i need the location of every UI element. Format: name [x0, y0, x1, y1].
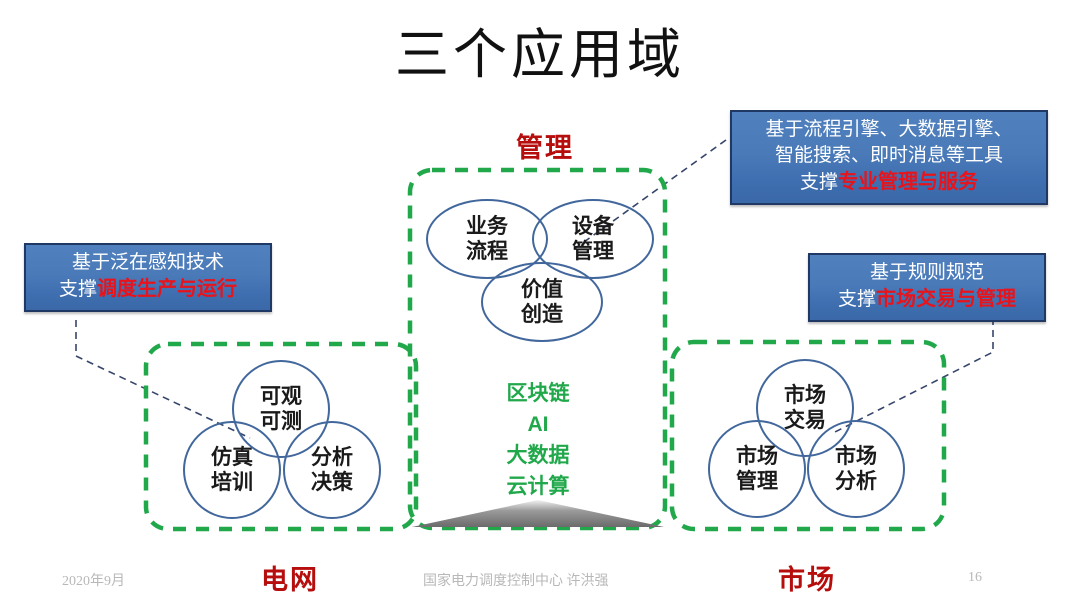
- callout-grid-highlight: 调度生产与运行: [97, 278, 237, 300]
- tech-item-cloud: 云计算: [468, 471, 608, 502]
- callout-market-highlight: 市场交易与管理: [876, 288, 1016, 310]
- connector-left: [76, 320, 250, 438]
- callout-grid: 基于泛在感知技术 支撑调度生产与运行: [24, 243, 272, 312]
- node-label-equipment-management: 设备 管理: [547, 214, 639, 264]
- connector-right: [835, 318, 993, 432]
- callout-grid-prefix: 支撑: [59, 279, 97, 300]
- domain-label-market: 市场: [717, 558, 897, 597]
- callout-management-line3: 支撑专业管理与服务: [740, 169, 1038, 196]
- callout-management-line1: 基于流程引擎、大数据引擎、: [740, 117, 1038, 143]
- callout-grid-line2: 支撑调度生产与运行: [34, 276, 262, 303]
- callout-management-prefix: 支撑: [800, 172, 838, 193]
- callout-management: 基于流程引擎、大数据引擎、 智能搜索、即时消息等工具 支撑专业管理与服务: [730, 110, 1048, 205]
- tech-item-ai: AI: [468, 409, 608, 440]
- callout-management-highlight: 专业管理与服务: [838, 171, 978, 193]
- slide-canvas: 三个应用域: [0, 0, 1080, 608]
- node-label-market-trading: 市场 交易: [759, 383, 851, 433]
- domain-label-management: 管理: [455, 126, 635, 165]
- tech-item-bigdata: 大数据: [468, 440, 608, 471]
- callout-management-line2: 智能搜索、即时消息等工具: [740, 143, 1038, 169]
- callout-market-line2: 支撑市场交易与管理: [818, 286, 1036, 313]
- market-domain-box: [672, 342, 944, 529]
- node-label-market-analysis: 市场 分析: [810, 444, 902, 494]
- callout-market: 基于规则规范 支撑市场交易与管理: [808, 253, 1046, 322]
- domain-label-grid: 电网: [200, 558, 380, 597]
- callout-grid-line1: 基于泛在感知技术: [34, 250, 262, 276]
- footer-page-number: 16: [968, 570, 982, 586]
- node-label-observable-measurable: 可观 可测: [235, 384, 327, 434]
- node-label-simulation-training: 仿真 培训: [186, 445, 278, 495]
- tech-item-blockchain: 区块链: [468, 378, 608, 409]
- node-label-business-process: 业务 流程: [441, 214, 533, 264]
- callout-market-line1: 基于规则规范: [818, 260, 1036, 286]
- foundation-triangle: [412, 500, 664, 527]
- technology-stack-list: 区块链 AI 大数据 云计算: [468, 378, 608, 502]
- callout-market-prefix: 支撑: [838, 289, 876, 310]
- node-label-market-management: 市场 管理: [711, 444, 803, 494]
- footer-organization: 国家电力调度控制中心 许洪强: [423, 570, 609, 590]
- node-label-value-creation: 价值 创造: [496, 277, 588, 327]
- grid-domain-box: [146, 344, 416, 529]
- page-title: 三个应用域: [0, 24, 1080, 86]
- footer-date: 2020年9月: [62, 570, 125, 590]
- node-label-analysis-decision: 分析 决策: [286, 445, 378, 495]
